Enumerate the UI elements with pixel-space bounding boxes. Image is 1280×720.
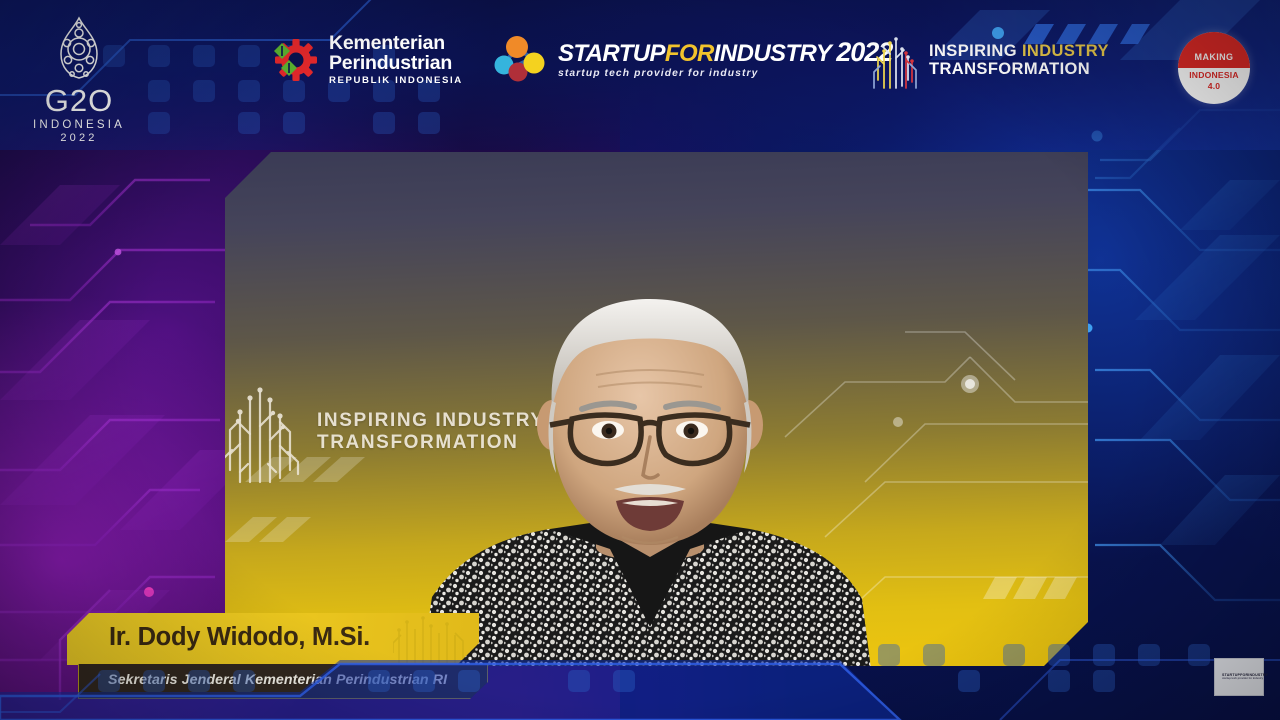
campaign-line2: TRANSFORMATION (929, 61, 1109, 79)
bottom-strip (0, 630, 1280, 720)
thumbnail-text: STARTUPFORINDUSTRY startup tech provider… (1222, 673, 1268, 680)
thumbnail-line2: startup tech provider for industry (1222, 678, 1268, 681)
speaker-video-tile[interactable]: INSPIRING INDUSTRY TRANSFORMATION (225, 152, 1088, 666)
circuit-tree-icon (868, 30, 920, 92)
event-tagline: startup tech provider for industry (558, 69, 892, 79)
header-bar: G2O INDONESIA 2022 (0, 0, 1280, 150)
batik-gunungan-icon (43, 16, 115, 80)
event-title-row: STARTUPFORINDUSTRY2022 (558, 39, 892, 66)
event-text: STARTUPFORINDUSTRY2022 startup tech prov… (558, 39, 892, 79)
g20-logo: G2O INDONESIA 2022 (24, 16, 134, 148)
campaign-dash-decoration (988, 18, 1168, 48)
molecule-nodes-icon (492, 32, 548, 86)
event-part3: INDUSTRY (714, 40, 831, 67)
campaign-logo-block: INSPIRING INDUSTRY TRANSFORMATION (868, 30, 1109, 92)
ministry-line3: REPUBLIK INDONESIA (329, 76, 463, 86)
event-part1: STARTUP (558, 40, 665, 67)
making-indonesia-logo: MAKING INDONESIA4.0 (1178, 32, 1250, 104)
event-logo-block: STARTUPFORINDUSTRY2022 startup tech prov… (492, 32, 892, 86)
ministry-line1: Kementerian (329, 34, 463, 54)
g20-title: G2O (24, 86, 134, 116)
circuit-tree-icon (225, 374, 305, 489)
making-indonesia-line1: MAKING (1178, 52, 1250, 62)
gear-leaf-logo-icon (266, 35, 320, 85)
ministry-logo-block: Kementerian Perindustrian REPUBLIK INDON… (266, 34, 463, 86)
ministry-line2: Perindustrian (329, 54, 463, 74)
g20-country: INDONESIA (24, 118, 134, 132)
making-indonesia-top-half (1178, 32, 1250, 68)
g20-year: 2022 (24, 132, 134, 145)
secondary-video-thumbnail[interactable]: STARTUPFORINDUSTRY startup tech provider… (1214, 658, 1264, 696)
broadcast-stage: G2O INDONESIA 2022 (0, 0, 1280, 720)
making-indonesia-line2: INDONESIA4.0 (1178, 70, 1250, 92)
campaign-text: INSPIRING INDUSTRY TRANSFORMATION (929, 43, 1109, 79)
ministry-text: Kementerian Perindustrian REPUBLIK INDON… (329, 34, 463, 86)
event-part2: FOR (665, 40, 714, 67)
speaker-portrait (400, 297, 900, 666)
